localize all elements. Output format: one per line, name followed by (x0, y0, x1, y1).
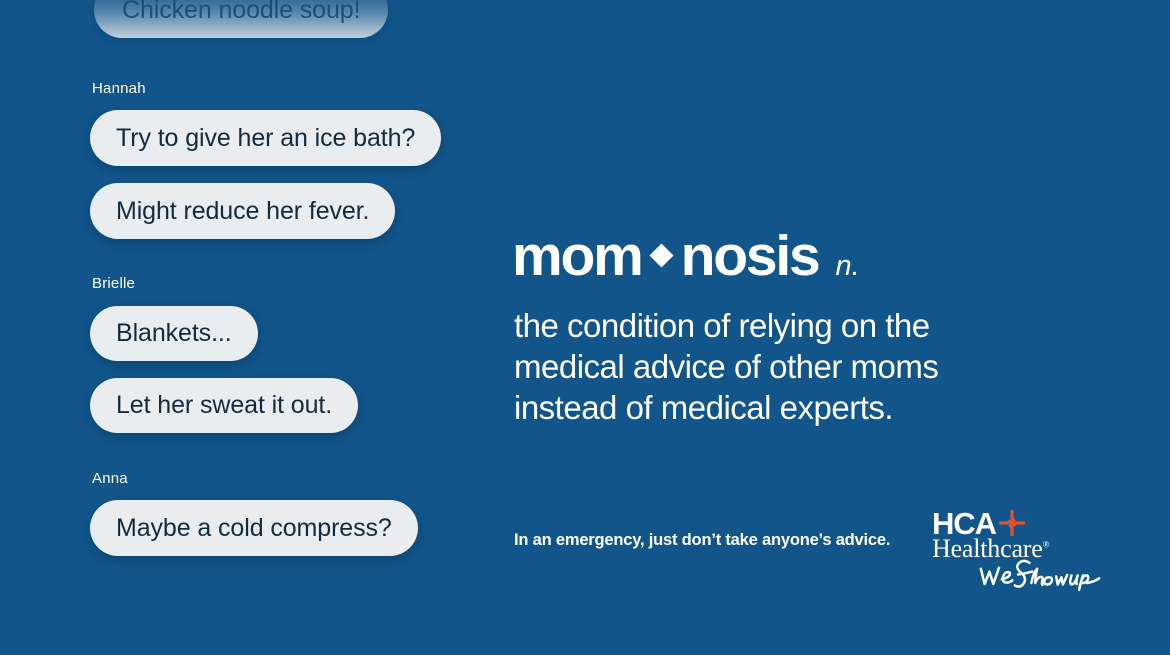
hca-healthcare-logo: HCA Healthcare® (920, 503, 1110, 603)
chat-conversation-column: Chicken noodle soup! Hannah Try to give … (0, 0, 480, 655)
chat-bubble-brielle-1: Blankets... (90, 306, 258, 361)
headline-word-nosis: nosis (681, 228, 819, 285)
emergency-tagline: In an emergency, just don’t take anyone’… (514, 531, 890, 550)
chat-sender-label-hannah: Hannah (92, 80, 146, 97)
diamond-icon (649, 243, 673, 267)
headline-part-of-speech: n. (835, 250, 859, 283)
headline: mom nosis n. (512, 228, 860, 285)
headline-word-mom: mom (512, 228, 642, 285)
registered-trademark-icon: ® (1043, 539, 1050, 549)
chat-bubble-anna-1: Maybe a cold compress? (90, 500, 418, 556)
advertisement-canvas: Chicken noodle soup! Hannah Try to give … (0, 0, 1170, 655)
chat-bubble-brielle-2: Let her sweat it out. (90, 378, 358, 433)
chat-bubble-hannah-2: Might reduce her fever. (90, 183, 395, 239)
chat-bubble-text: Maybe a cold compress? (116, 514, 392, 543)
chat-bubble-hannah-1: Try to give her an ice bath? (90, 110, 441, 166)
chat-bubble-text: Try to give her an ice bath? (116, 124, 415, 153)
message-column: mom nosis n. the condition of relying on… (512, 0, 1152, 655)
chat-bubble-text: Let her sweat it out. (116, 391, 332, 420)
hca-cross-icon (999, 510, 1025, 536)
chat-bubble-text: Might reduce her fever. (116, 197, 369, 226)
chat-bubble-faded-top: Chicken noodle soup! (94, 0, 388, 38)
chat-bubble-text: Blankets... (116, 319, 232, 348)
chat-sender-label-anna: Anna (92, 470, 128, 487)
definition-text: the condition of relying on the medical … (514, 305, 1044, 428)
chat-sender-label-brielle: Brielle (92, 275, 135, 292)
chat-bubble-text: Chicken noodle soup! (122, 0, 360, 25)
hca-tagline-signature (978, 555, 1102, 595)
